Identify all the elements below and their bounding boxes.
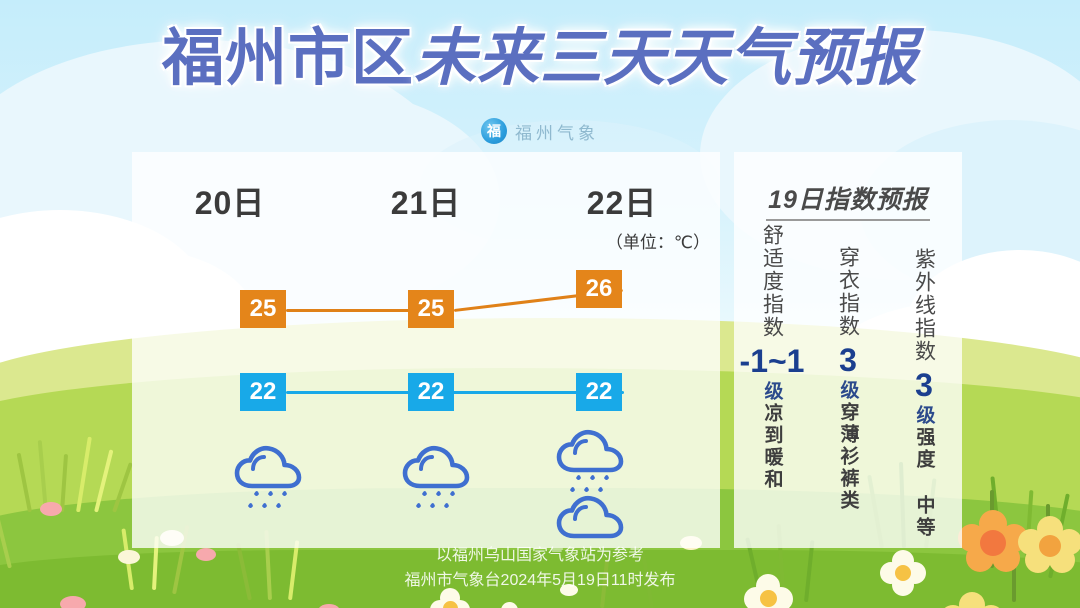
index-level-1: 级 — [839, 380, 858, 402]
footer-line-1: 以福州乌山国家气象站为参考 — [0, 544, 1080, 569]
index-desc-0: 凉到暖和 — [763, 403, 782, 491]
cloud-icon — [552, 492, 630, 549]
brand-logo: 福 福州气象 — [0, 118, 1080, 144]
index-column-comfort: 舒适度指数 -1~1 级 凉到暖和 — [734, 222, 810, 548]
footer-note: 以福州乌山国家气象站为参考 福州市气象台2024年5月19日11时发布 — [0, 544, 1080, 594]
low-temp-box-1: 22 — [408, 373, 454, 411]
index-level-0: 级 — [763, 381, 782, 403]
high-temp-box-1: 25 — [408, 290, 454, 328]
index-desc-2: 强度 中等 — [915, 427, 934, 539]
low-temp-box-2: 22 — [576, 373, 622, 411]
index-value-1: 3 — [839, 344, 857, 376]
footer-line-2: 福州市气象台2024年5月19日11时发布 — [0, 569, 1080, 594]
temperature-chart: 25 25 26 22 22 22 — [132, 152, 720, 548]
index-name-1: 穿衣指数 — [838, 246, 859, 338]
brand-name: 福州气象 — [515, 119, 599, 144]
index-name-2: 紫外线指数 — [914, 248, 935, 363]
index-name-0: 舒适度指数 — [762, 224, 783, 339]
index-desc-1: 穿薄衫裤类 — [839, 402, 858, 512]
low-temp-box-0: 22 — [240, 373, 286, 411]
title-city: 福州市区 — [162, 24, 414, 93]
title-subject: 未来三天天气预报 — [414, 24, 918, 93]
high-temp-box-2: 26 — [576, 270, 622, 308]
index-value-2: 3 — [915, 369, 933, 401]
index-column-uv: 紫外线指数 3 级 强度 中等 — [886, 222, 962, 548]
fuzhou-badge-icon: 福 — [481, 118, 507, 144]
index-column-clothing: 穿衣指数 3 级 穿薄衫裤类 — [810, 222, 886, 548]
index-columns: 舒适度指数 -1~1 级 凉到暖和 穿衣指数 3 级 穿薄衫裤类 紫外线指数 3… — [734, 222, 962, 548]
high-temp-box-0: 25 — [240, 290, 286, 328]
index-value-0: -1~1 — [740, 345, 805, 377]
weather-infographic: 福州市区未来三天天气预报 福 福州气象 20日 21日 22日 （单位：℃） 2… — [0, 0, 1080, 608]
index-panel-title: 19日指数预报 — [734, 180, 962, 221]
index-level-2: 级 — [915, 405, 934, 427]
rain-cloud-icon — [230, 442, 308, 521]
rain-cloud-icon — [398, 442, 476, 521]
index-panel-title-text: 19日指数预报 — [766, 180, 930, 221]
page-title: 福州市区未来三天天气预报 — [0, 28, 1080, 90]
low-temp-line — [286, 391, 624, 394]
